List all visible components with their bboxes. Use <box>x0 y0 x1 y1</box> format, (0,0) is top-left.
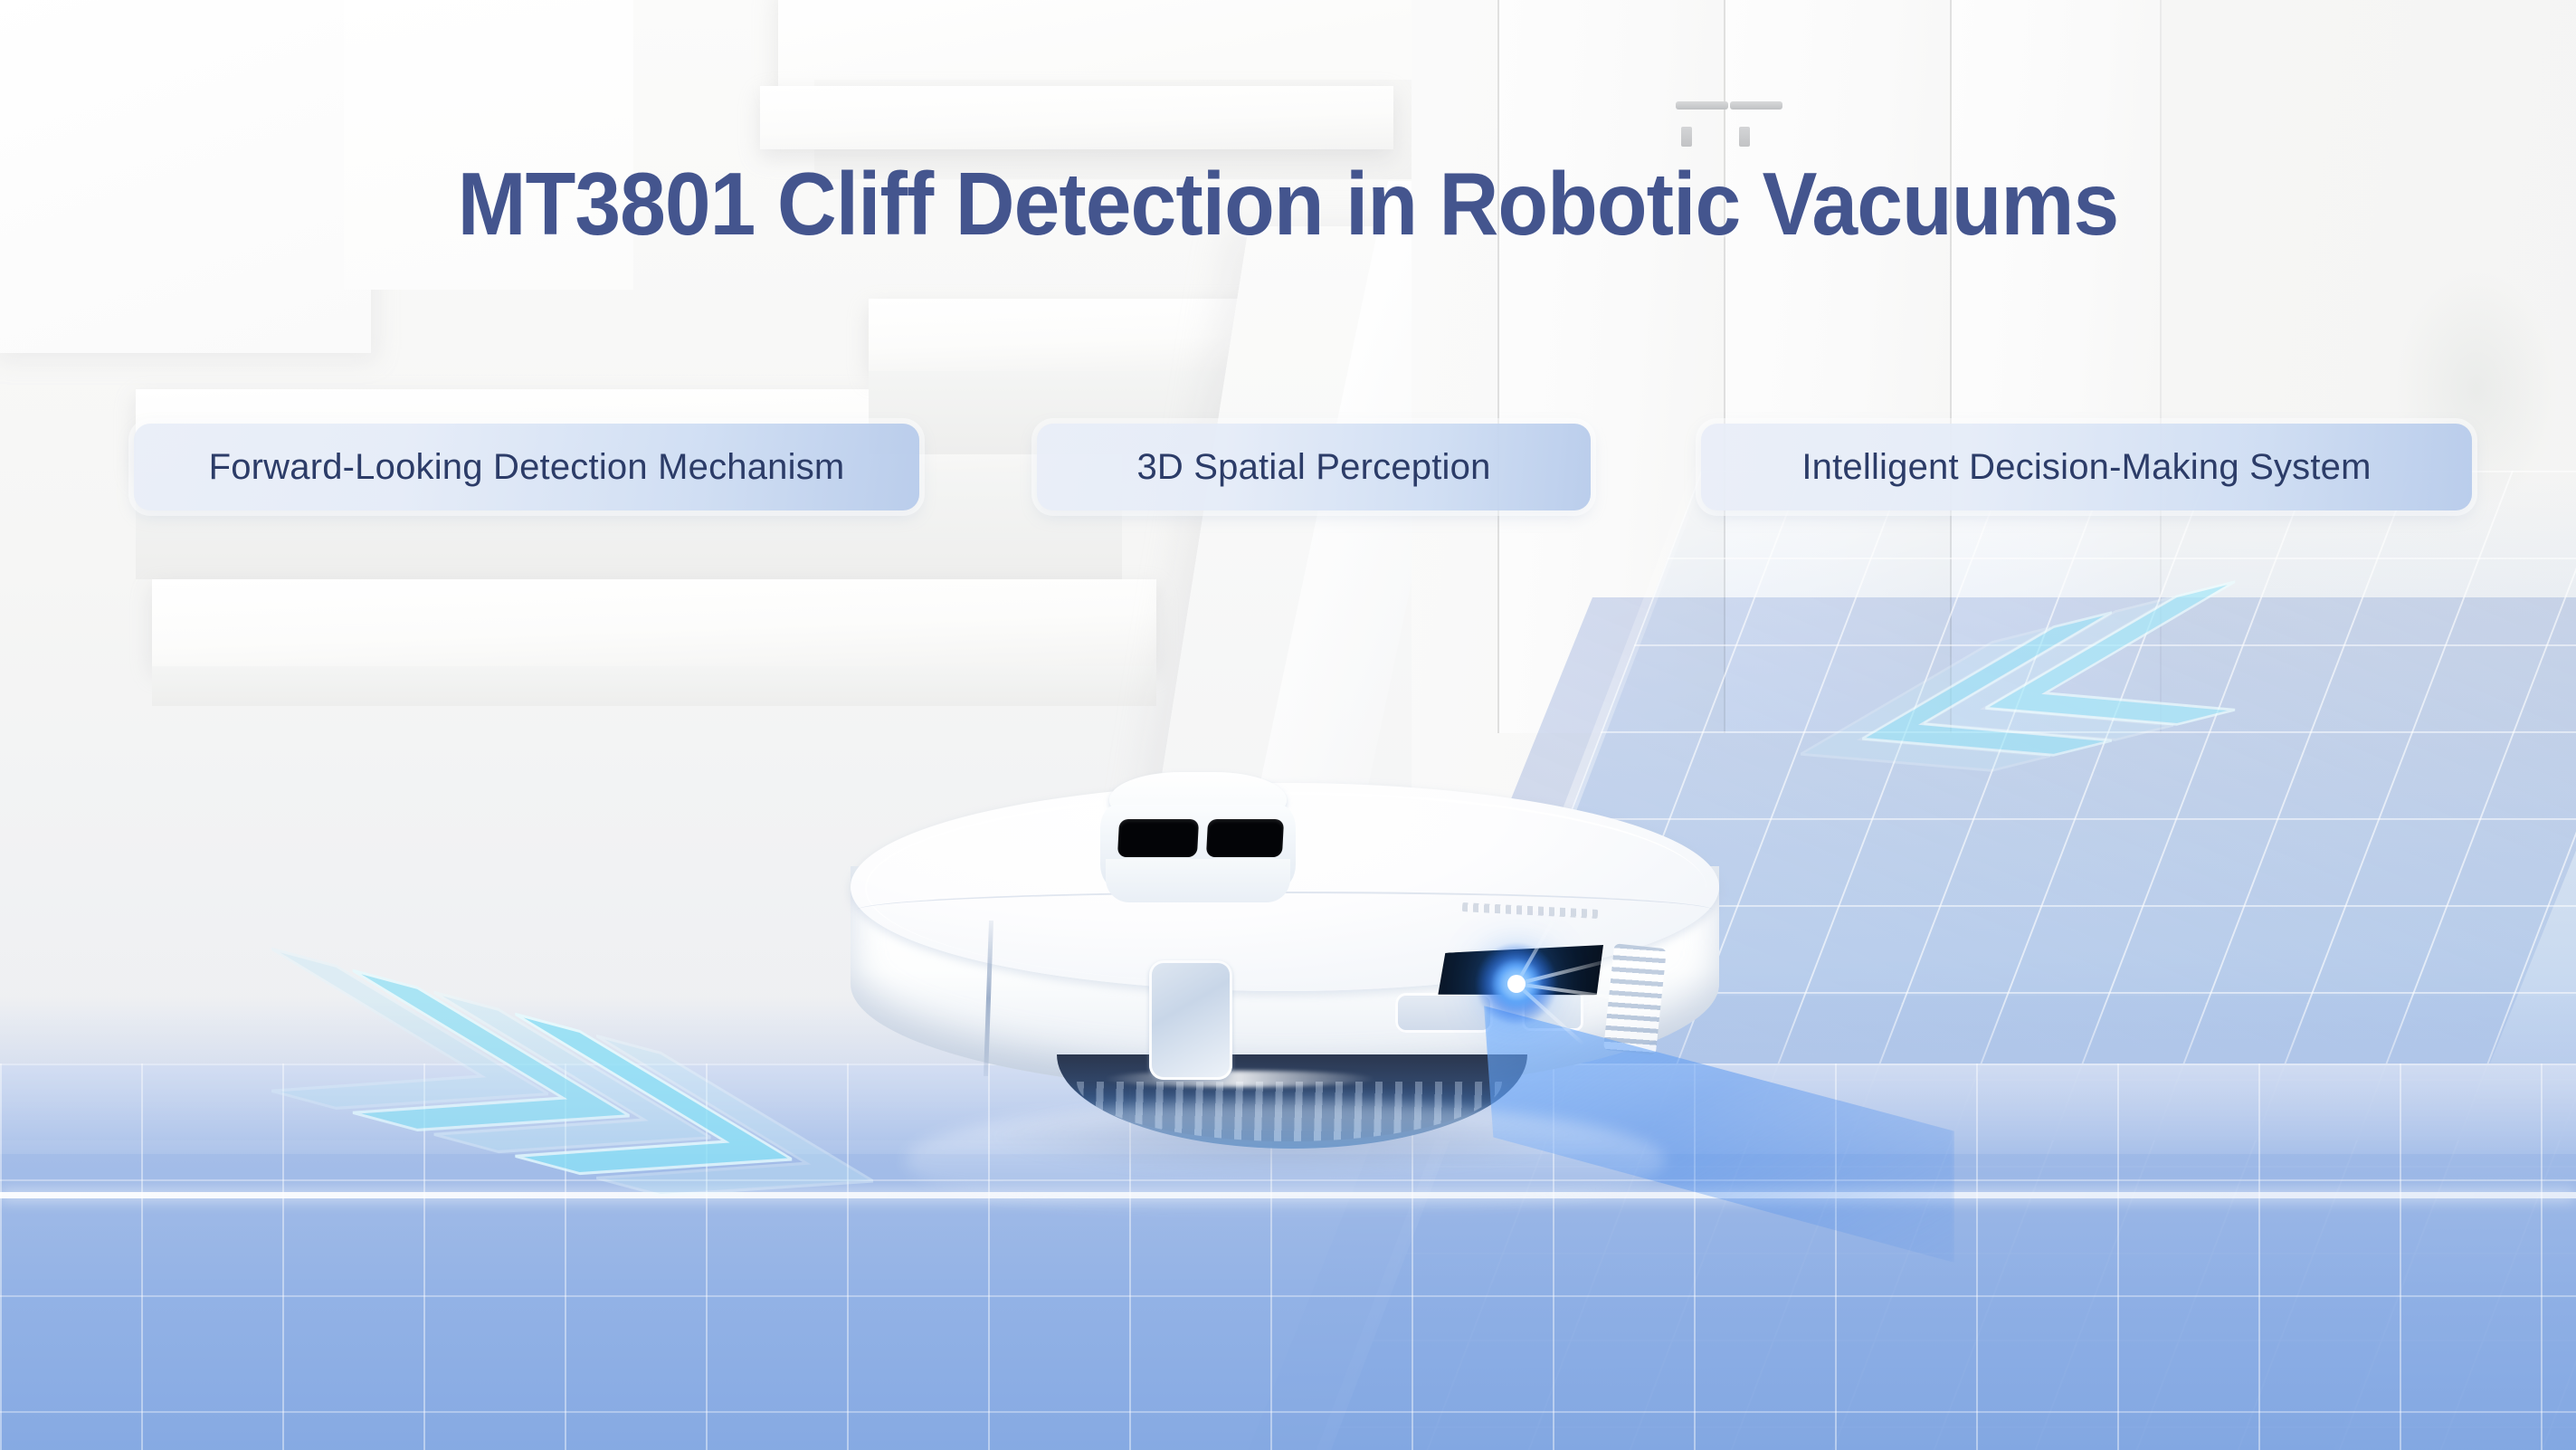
feature-chip-row: Forward-Looking Detection Mechanism 3D S… <box>0 424 2576 510</box>
lidar-base <box>1106 859 1290 902</box>
robot-under-highlight <box>1104 1071 1375 1087</box>
robot-vacuum <box>851 783 1719 1163</box>
door-lock-left <box>1681 127 1692 147</box>
stair-riser-2 <box>152 666 1156 706</box>
door-lock-right <box>1739 127 1750 147</box>
poster-canvas: MT3801 Cliff Detection in Robotic Vacuum… <box>0 0 2576 1450</box>
lidar-turret <box>1095 772 1301 910</box>
robot-floor-reflection <box>905 1102 1665 1219</box>
feature-chip-3d-spatial-perception[interactable]: 3D Spatial Perception <box>1037 424 1591 510</box>
stair-tread-2 <box>152 579 1156 666</box>
feature-chip-intelligent-decision-making[interactable]: Intelligent Decision-Making System <box>1701 424 2472 510</box>
robot-side-vent-panel <box>1149 960 1232 1080</box>
stair-landing-upper <box>778 0 1430 91</box>
lidar-window-right <box>1206 819 1284 857</box>
door-handle-left <box>1676 101 1728 110</box>
lidar-window-left <box>1117 819 1199 857</box>
laser-emitter-point <box>1507 975 1526 993</box>
stair-tread-4 <box>760 86 1393 149</box>
page-title: MT3801 Cliff Detection in Robotic Vacuum… <box>90 159 2486 248</box>
feature-chip-forward-looking-detection[interactable]: Forward-Looking Detection Mechanism <box>134 424 919 510</box>
door-handle-right <box>1730 101 1782 110</box>
